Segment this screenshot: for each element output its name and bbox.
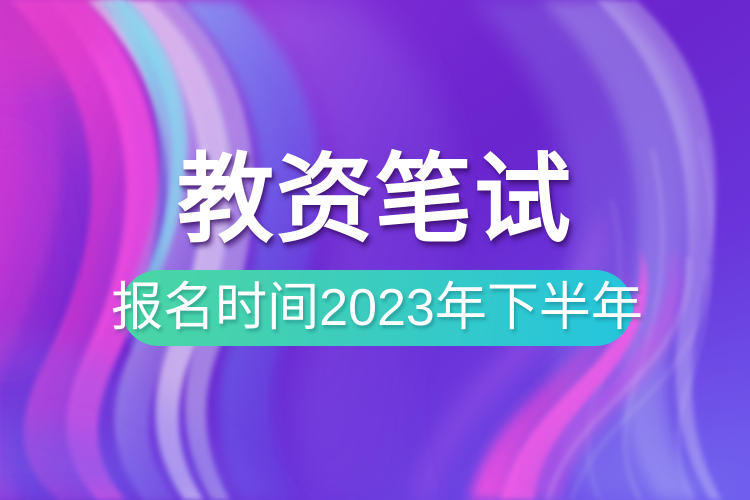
subtitle-text: 报名时间2023年下半年 <box>121 270 633 346</box>
banner-content: 教资笔试 报名时间2023年下半年 <box>0 0 750 500</box>
subtitle-pill: 报名时间2023年下半年 <box>121 270 633 346</box>
page-title: 教资笔试 <box>0 148 750 252</box>
promo-banner: 教资笔试 报名时间2023年下半年 <box>0 0 750 500</box>
